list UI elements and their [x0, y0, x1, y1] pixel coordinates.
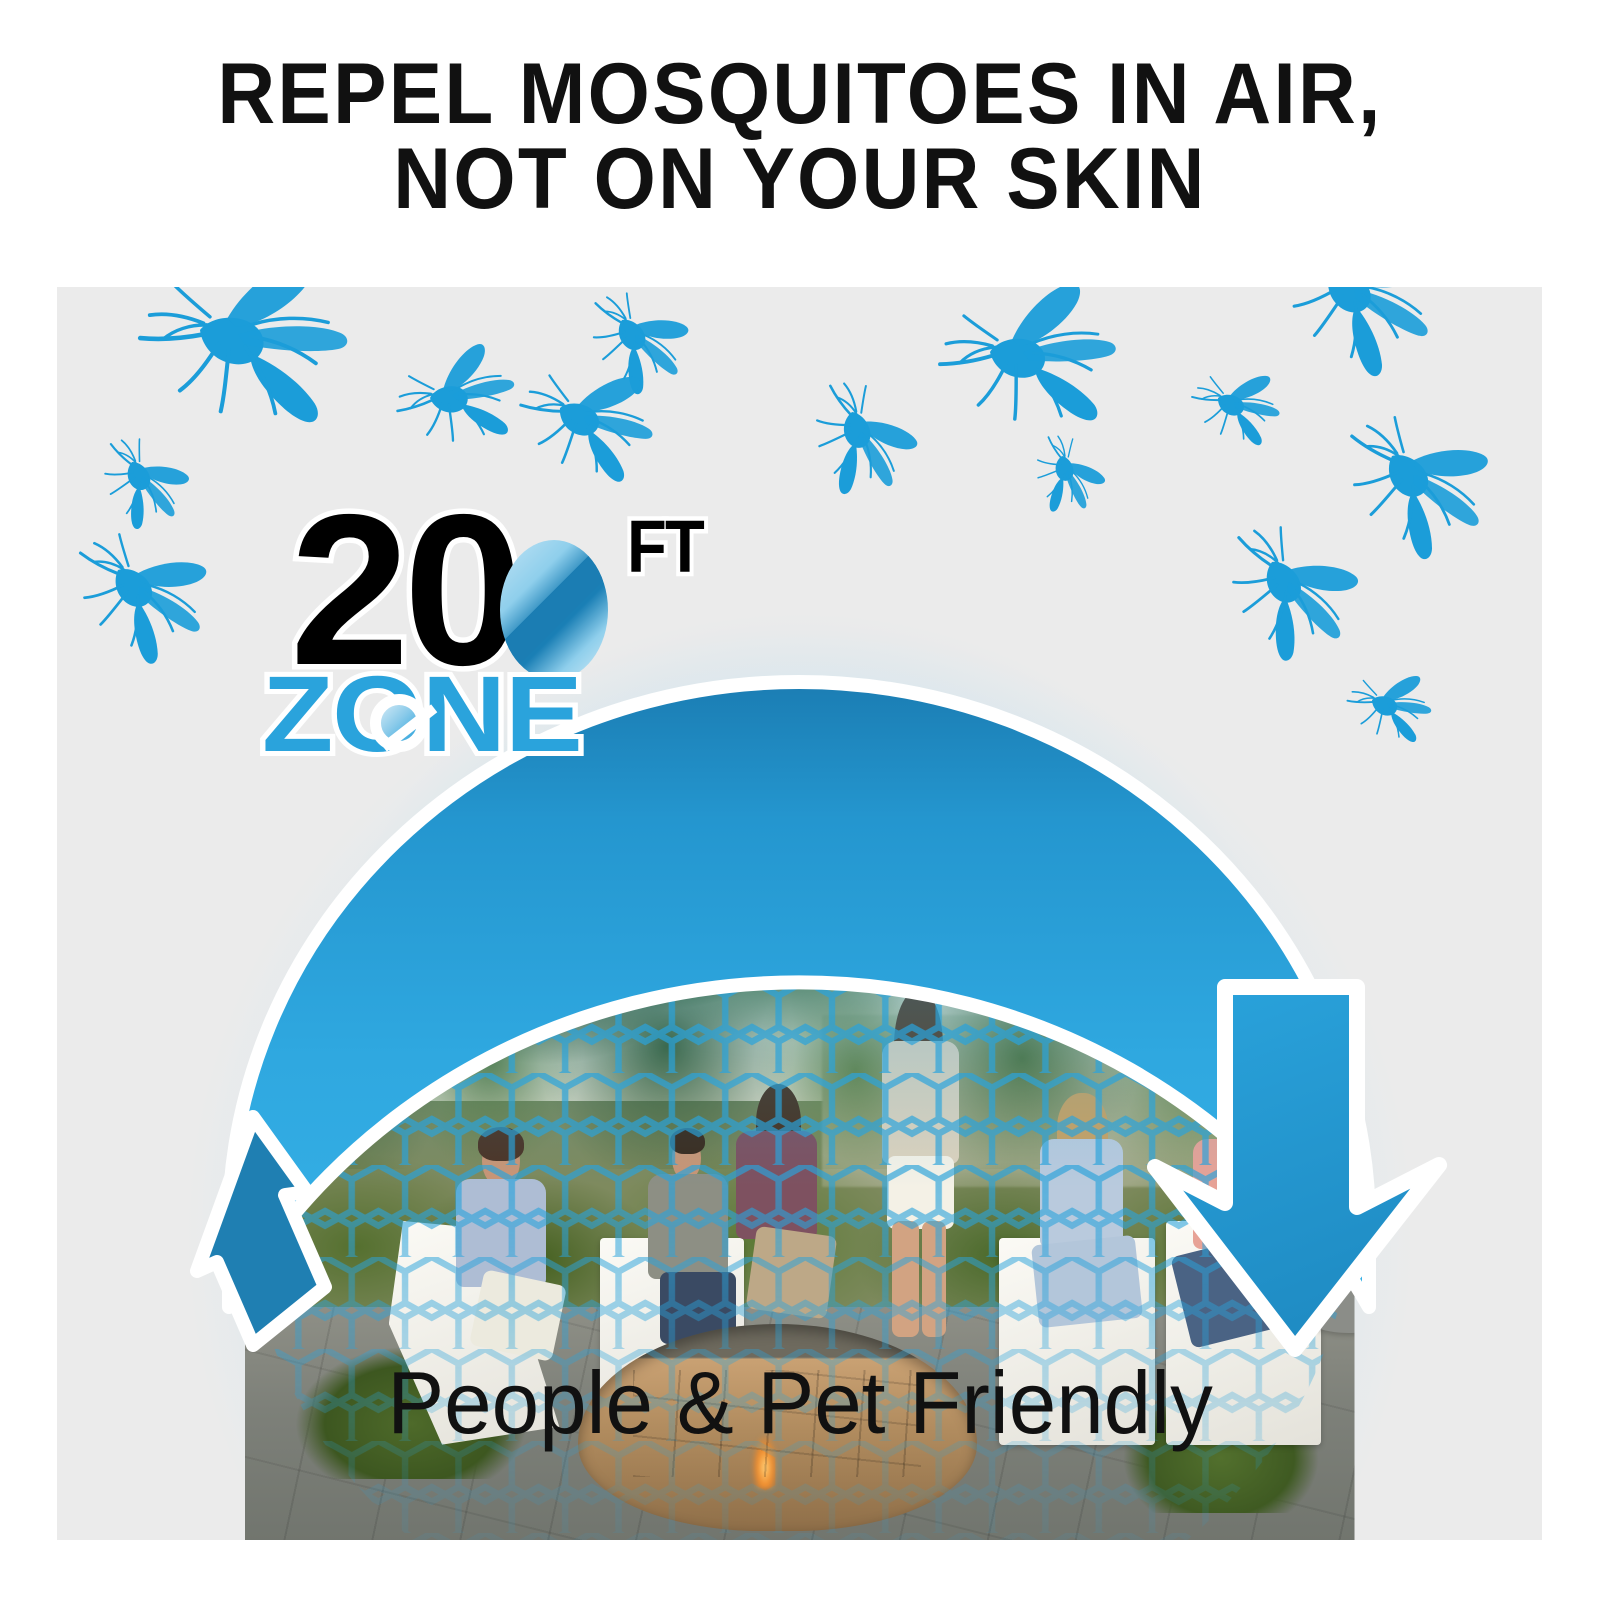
page-title: REPEL MOSQUITOES IN AIR, NOT ON YOUR SKI…	[56, 52, 1544, 222]
zone-badge: 20 FT ZONE	[242, 482, 712, 782]
tagline: People & Pet Friendly	[24, 1352, 1576, 1454]
no-mosquito-slash-icon	[370, 694, 428, 752]
advertisement-canvas: REPEL MOSQUITOES IN AIR, NOT ON YOUR SKI…	[0, 0, 1600, 1600]
zone-unit: FT	[627, 510, 703, 584]
